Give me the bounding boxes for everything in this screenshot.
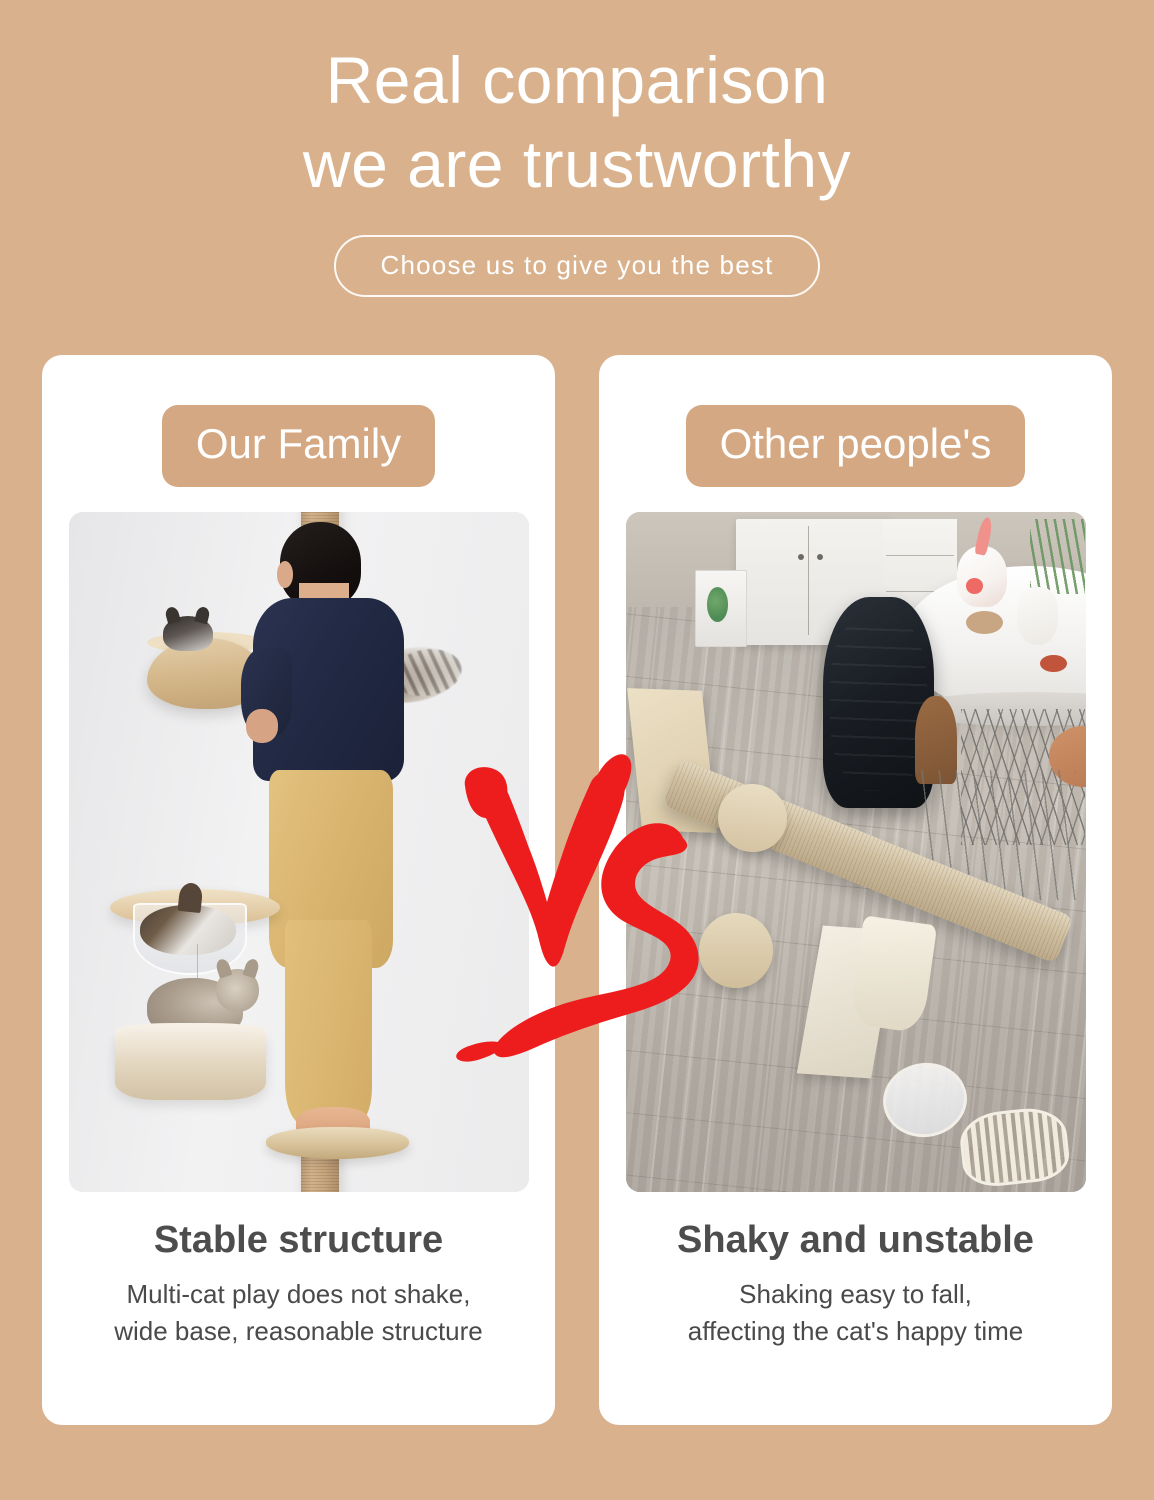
caption-body-our-family: Multi-cat play does not shake, wide base… <box>114 1276 483 1350</box>
photo-our-family <box>69 512 529 1192</box>
comparison-cards: Our Family <box>42 355 1112 1425</box>
page-title: Real comparison we are trustworthy <box>0 38 1154 207</box>
caption-body-other-people: Shaking easy to fall, affecting the cat'… <box>677 1276 1034 1350</box>
badge-other-people: Other people's <box>686 405 1026 487</box>
person-arm <box>246 709 278 743</box>
caption-title-our-family: Stable structure <box>114 1220 483 1262</box>
hammock <box>115 1032 267 1100</box>
caption-other-people: Shaky and unstable Shaking easy to fall,… <box>659 1220 1052 1350</box>
header: Real comparison we are trustworthy Choos… <box>0 0 1154 297</box>
storage-box <box>695 570 748 647</box>
caption-our-family: Stable structure Multi-cat play does not… <box>96 1220 501 1350</box>
photo-our-family-scene <box>69 512 529 1192</box>
base-plate <box>266 1127 409 1158</box>
comparison-card-other-people: Other people's <box>599 355 1112 1425</box>
cat-in-bowl <box>140 905 237 955</box>
rabbit-ornament <box>957 546 1008 607</box>
cabinet-knob-right <box>817 554 823 560</box>
comparison-card-our-family: Our Family <box>42 355 555 1425</box>
potted-plant <box>1030 519 1085 594</box>
caption-title-other-people: Shaky and unstable <box>677 1220 1034 1262</box>
person-legs <box>285 920 372 1124</box>
cabinet-knob-left <box>798 554 804 560</box>
badge-our-family: Our Family <box>162 405 435 487</box>
cat-on-upper-shelf <box>163 616 214 651</box>
subtitle-pill: Choose us to give you the best <box>334 235 819 297</box>
wooden-coaster <box>966 611 1003 634</box>
photo-other-people-scene <box>626 512 1086 1192</box>
photo-other-people <box>626 512 1086 1192</box>
white-vase <box>1017 587 1058 645</box>
infographic-page: Real comparison we are trustworthy Choos… <box>0 0 1154 1500</box>
